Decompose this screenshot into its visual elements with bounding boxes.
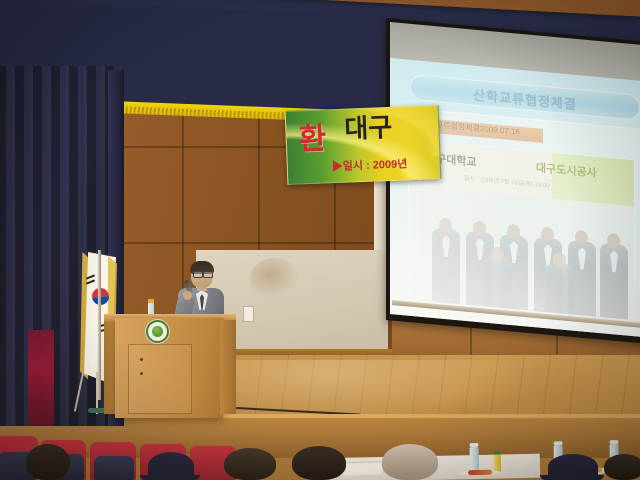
photo-person-head [473,221,486,237]
photo-person-head [553,252,566,268]
lectern-right-panel [220,320,236,414]
audience-head [224,448,276,480]
wood-seam [105,242,415,244]
photo-scene: 산학교류협정체결 산학교류협정체결2009.07.16 대구대학교 대구도시공사… [0,0,640,480]
bottle-cap [148,299,154,303]
photo-person-head [607,233,620,249]
banner-date-line: ▶일시 : 2009년 [331,155,407,174]
photo-person-head [491,246,504,262]
lectern-control-button[interactable] [140,372,143,375]
audience-head [26,444,70,480]
emblem-core [152,326,163,337]
photo-person-head [541,227,554,243]
projection-screen-surface: 산학교류협정체결 산학교류협정체결2009.07.16 대구대학교 대구도시공사… [390,58,640,337]
lectern-front-inset [128,344,192,414]
lectern-control-button[interactable] [140,358,143,361]
photo-person-head [507,224,520,240]
wall-switch-plate[interactable] [243,306,254,322]
speaker-hand [183,291,192,300]
slide-body: 산학교류협정체결2009.07.16 대구대학교 대구도시공사 일시 : 200… [408,108,640,327]
institution-emblem-icon [146,320,169,343]
audience-head [292,446,346,480]
glasses-icon [193,271,203,278]
audience-head-gray-hair [382,444,438,480]
glasses-icon [203,271,213,278]
photo-person-seated [546,262,574,315]
audience-head [604,454,640,480]
cap-brim [140,475,200,480]
audience-people [0,440,640,480]
wall-stain [250,258,300,298]
photo-people-row [418,185,634,321]
photo-person-head [575,230,588,246]
banner-welcome-char: 환 [298,124,327,155]
curtain-red-lining [28,330,54,426]
slide-photo: 대구대학교 대구도시공사 일시 : 2009년 7월 16일(목) 15:00 [417,139,635,321]
photo-person-seated [484,257,512,310]
cap-brim [540,475,604,480]
photo-person-head [439,217,452,233]
banner-daegu-text: 대구 [344,114,393,142]
welcome-banner: 환 대구 ▶일시 : 2009년 [285,105,442,185]
flag-pole [98,250,101,400]
